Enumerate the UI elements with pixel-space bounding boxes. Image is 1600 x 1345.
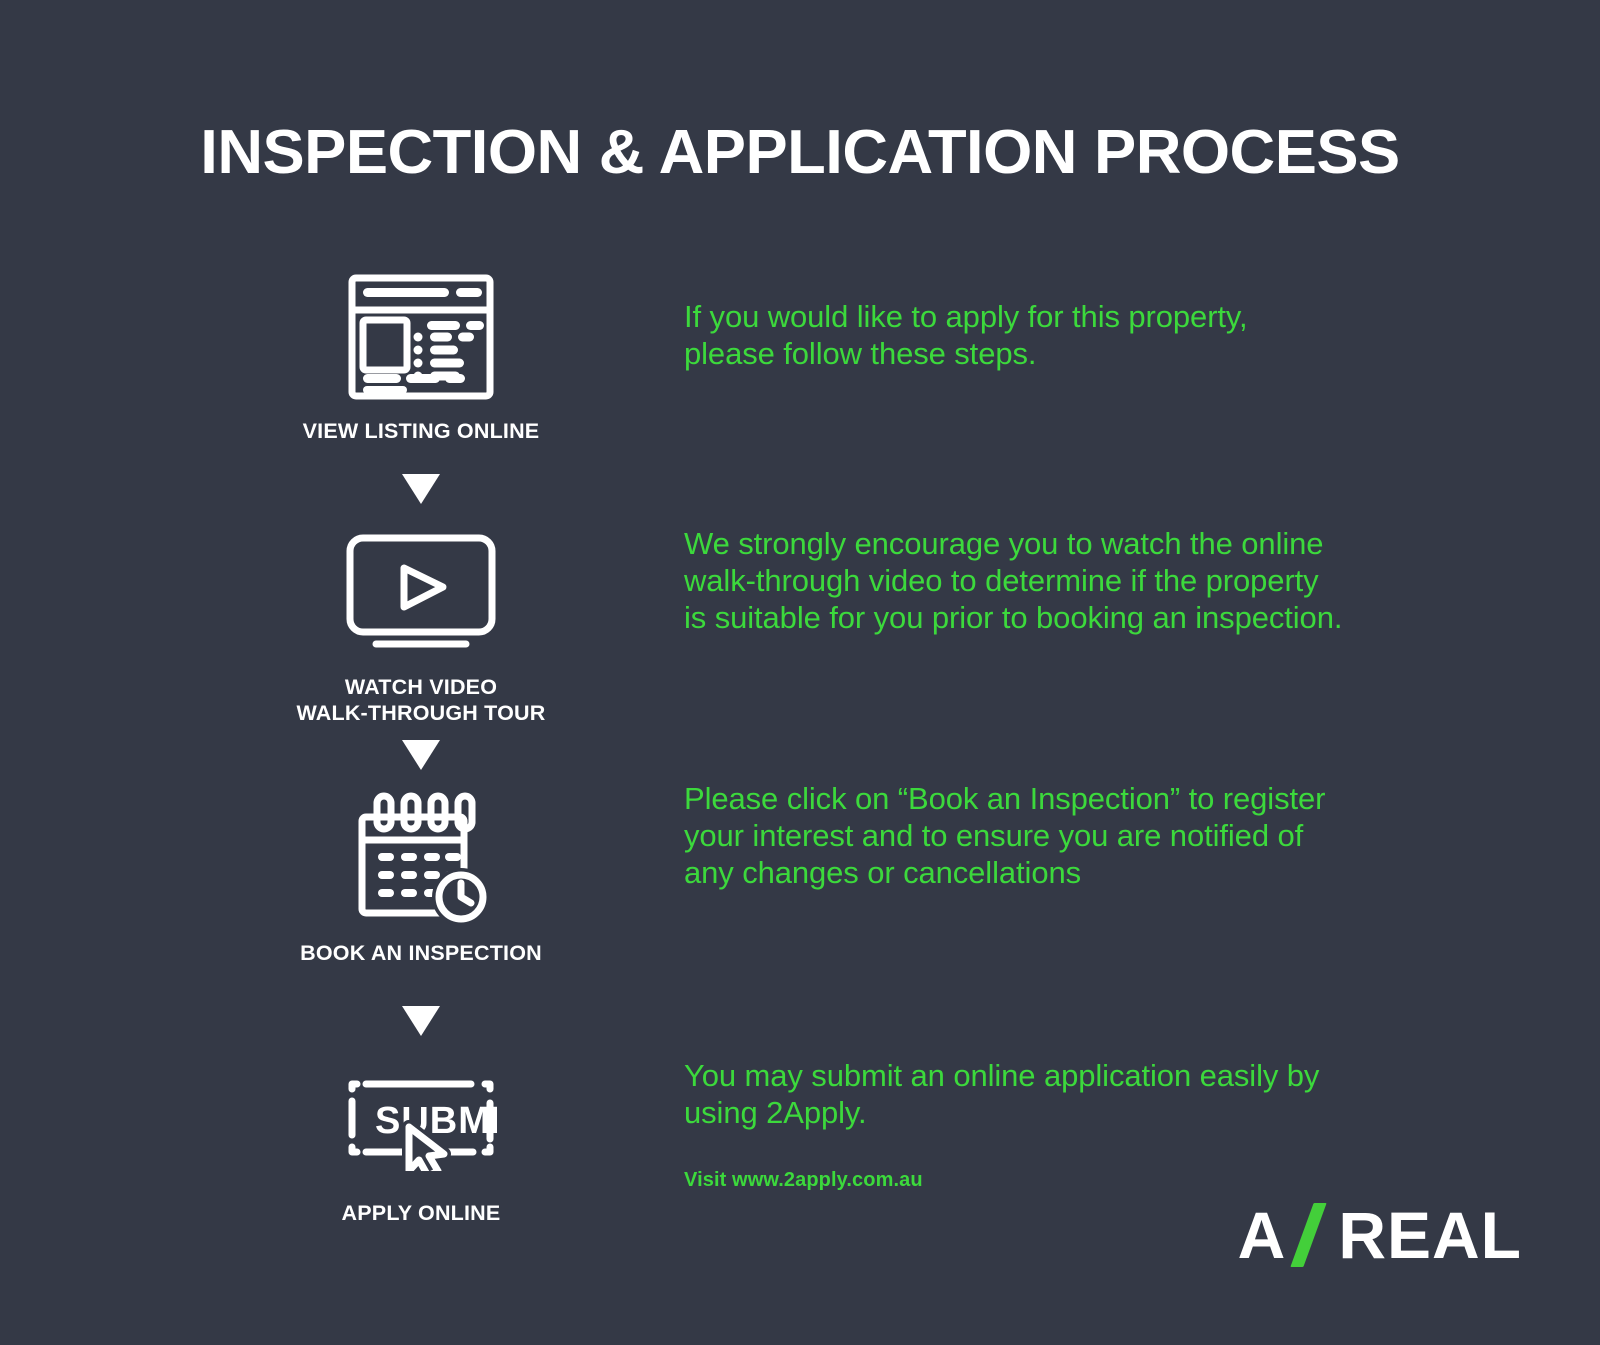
step-view-listing-online: VIEW LISTING ONLINE bbox=[280, 262, 562, 444]
step-label-view-listing-online: VIEW LISTING ONLINE bbox=[280, 418, 562, 444]
infographic-poster: INSPECTION & APPLICATION PROCESS bbox=[0, 0, 1600, 1345]
step-watch-video: WATCH VIDEO WALK-THROUGH TOUR bbox=[280, 518, 562, 726]
paragraph-watch-video: We strongly encourage you to watch the o… bbox=[684, 525, 1444, 637]
submit-label: SUBMIT bbox=[375, 1100, 497, 1142]
browser-listing-icon bbox=[280, 262, 562, 412]
paragraph-apply-online: You may submit an online application eas… bbox=[684, 1057, 1444, 1131]
visit-link[interactable]: Visit www.2apply.com.au bbox=[684, 1169, 923, 1192]
step-label-apply-online: APPLY ONLINE bbox=[280, 1200, 562, 1226]
paragraph-apply-intro: If you would like to apply for this prop… bbox=[684, 298, 1444, 372]
calendar-clock-icon bbox=[280, 784, 562, 934]
down-arrow-icon bbox=[280, 474, 562, 504]
down-arrow-icon bbox=[280, 740, 562, 770]
step-book-inspection: BOOK AN INSPECTION bbox=[280, 784, 562, 966]
step-apply-online: SUBMIT APPLY ONLINE bbox=[280, 1044, 562, 1226]
logo-word-real: REAL bbox=[1338, 1202, 1522, 1268]
down-arrow-icon bbox=[280, 1006, 562, 1036]
step-label-watch-video: WATCH VIDEO WALK-THROUGH TOUR bbox=[280, 674, 562, 726]
step-label-book-inspection: BOOK AN INSPECTION bbox=[280, 940, 562, 966]
logo-letter-a: A bbox=[1238, 1202, 1287, 1268]
page-title: INSPECTION & APPLICATION PROCESS bbox=[0, 122, 1600, 184]
video-play-monitor-icon bbox=[280, 518, 562, 668]
slash-icon bbox=[1292, 1203, 1326, 1267]
paragraph-book-inspection: Please click on “Book an Inspection” to … bbox=[684, 780, 1444, 892]
brand-logo: A REAL bbox=[1238, 1203, 1522, 1267]
submit-button-cursor-icon: SUBMIT bbox=[280, 1044, 562, 1194]
